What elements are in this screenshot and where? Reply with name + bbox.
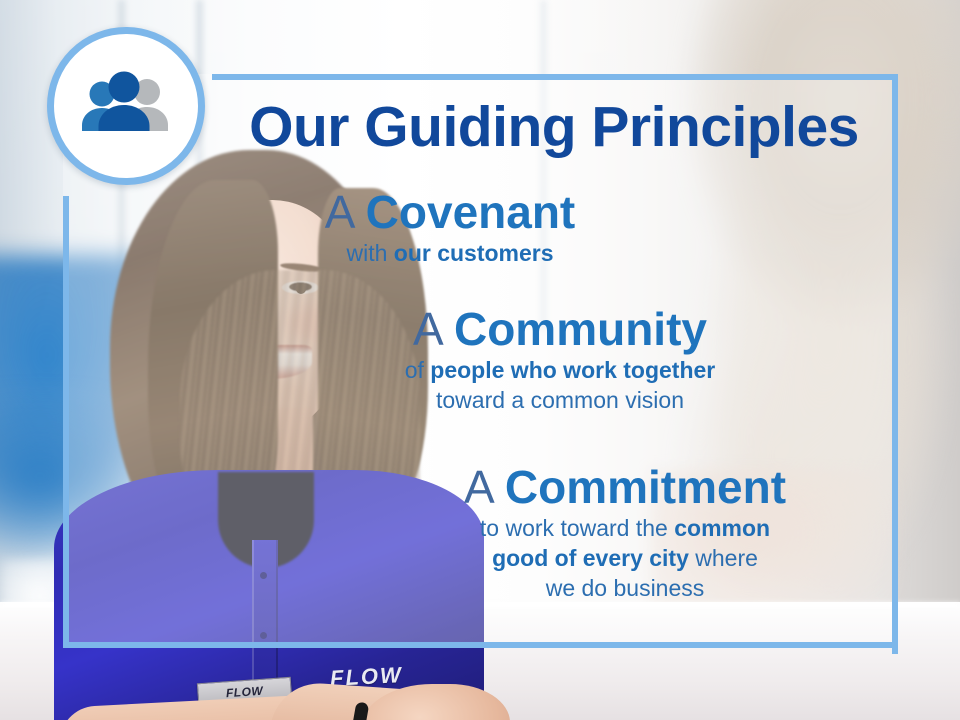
subtext-plain: with <box>346 240 393 266</box>
principle-keyword: Covenant <box>366 186 576 238</box>
window-mullion <box>540 0 547 330</box>
principle-commitment: A Commitment to work toward the commongo… <box>370 461 880 603</box>
principle-article: A <box>413 303 454 355</box>
shirt-button <box>260 632 267 639</box>
subtext-emphasis: our customers <box>394 240 554 266</box>
people-group-icon <box>78 69 174 143</box>
principle-heading: A Covenant <box>190 186 710 238</box>
principle-subtext: with our customers <box>190 238 710 268</box>
shirt-button <box>260 572 267 579</box>
frame-left-edge <box>63 196 69 648</box>
shirt-placket <box>252 540 278 690</box>
principle-article: A <box>464 461 505 513</box>
guiding-principles-graphic: FLOW AUTOMOTIVE FLOW <box>0 0 960 720</box>
principle-article: A <box>325 186 366 238</box>
subtext-plain: where <box>689 545 758 571</box>
principle-community: A Community of people who work togethert… <box>300 303 820 415</box>
principle-subtext: of people who work togethertoward a comm… <box>300 355 820 415</box>
subtext-plain: toward a common vision <box>436 387 684 413</box>
page-title: Our Guiding Principles <box>216 96 892 158</box>
subtext-plain: we do business <box>546 575 705 601</box>
principle-heading: A Community <box>300 303 820 355</box>
principle-subtext-line: with our customers <box>190 238 710 268</box>
subtext-emphasis: good of every city <box>492 545 689 571</box>
principle-heading: A Commitment <box>370 461 880 513</box>
principle-subtext-line: we do business <box>370 573 880 603</box>
subtext-emphasis: people who work together <box>430 357 715 383</box>
principle-subtext-line: good of every city where <box>370 543 880 573</box>
principle-subtext-line: toward a common vision <box>300 385 820 415</box>
principle-subtext-line: of people who work together <box>300 355 820 385</box>
principle-keyword: Commitment <box>505 461 786 513</box>
principle-keyword: Community <box>454 303 707 355</box>
subtext-emphasis: common <box>674 515 770 541</box>
subtext-plain: to work toward the <box>480 515 674 541</box>
people-group-icon-badge <box>47 27 205 185</box>
subtext-plain: of <box>405 357 431 383</box>
principle-covenant: A Covenant with our customers <box>190 186 710 268</box>
frame-top-edge <box>212 74 898 80</box>
principle-subtext: to work toward the commongood of every c… <box>370 513 880 603</box>
frame-bottom-edge <box>63 642 898 648</box>
frame-right-edge <box>892 74 898 654</box>
principle-subtext-line: to work toward the common <box>370 513 880 543</box>
